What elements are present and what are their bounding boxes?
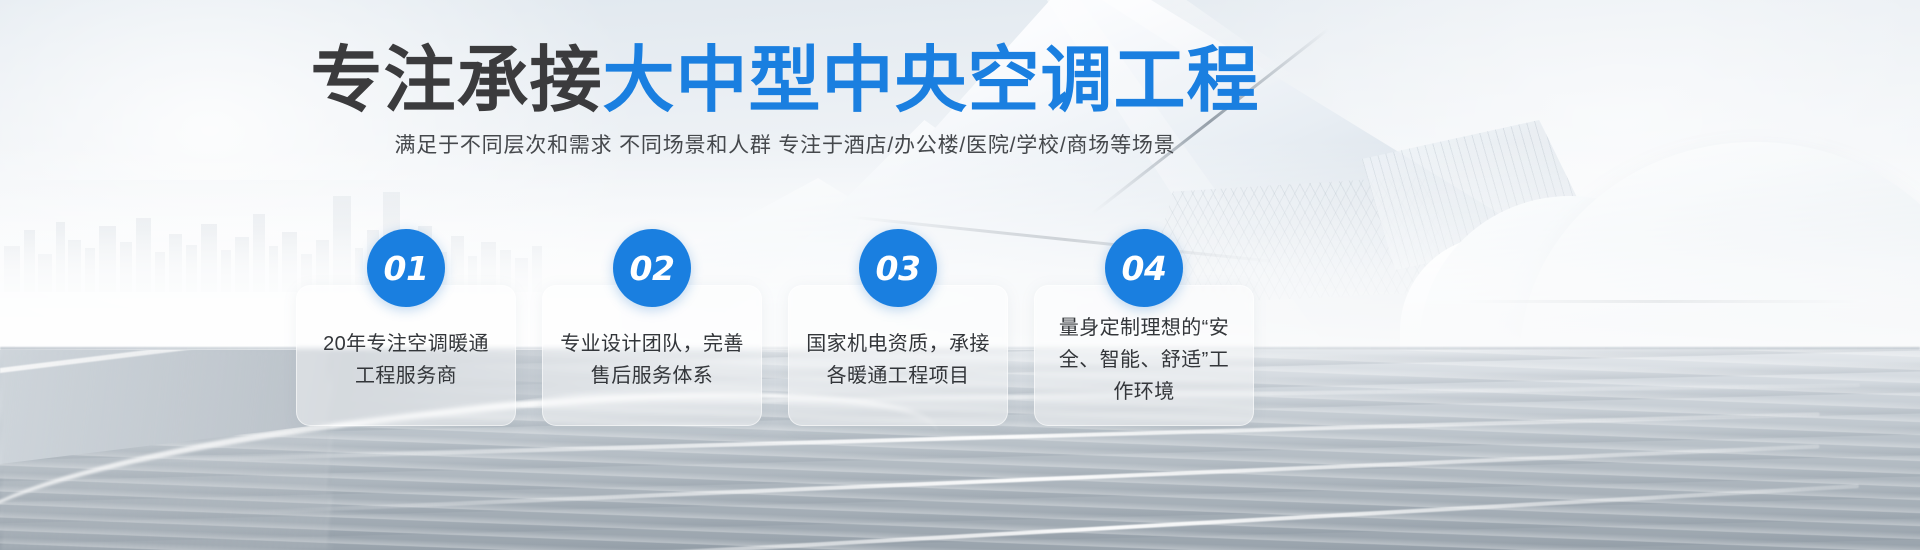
feature-number-04: 04	[1122, 249, 1167, 288]
feature-badge-01: 01	[367, 229, 445, 307]
feature-text-01: 20年专注空调暖通工程服务商	[313, 328, 499, 392]
page-subtitle: 满足于不同层次和需求 不同场景和人群 专注于酒店/办公楼/医院/学校/商场等场景	[0, 130, 1570, 162]
feature-badge-03: 03	[859, 229, 937, 307]
hero-banner: 专注承接大中型中央空调工程 满足于不同层次和需求 不同场景和人群 专注于酒店/办…	[0, 0, 1920, 550]
feature-number-03: 03	[876, 249, 921, 288]
road-speed-streaks	[0, 350, 330, 550]
feature-card-04[interactable]: 04 量身定制理想的“安全、智能、舒适”工作环境	[1034, 285, 1254, 426]
feature-card-03[interactable]: 03 国家机电资质，承接各暖通工程项目	[788, 285, 1008, 426]
feature-badge-04: 04	[1105, 229, 1183, 307]
headline-dark-text: 专注承接	[310, 38, 602, 122]
feature-number-01: 01	[384, 249, 429, 288]
feature-text-03: 国家机电资质，承接各暖通工程项目	[805, 328, 991, 392]
feature-text-04: 量身定制理想的“安全、智能、舒适”工作环境	[1051, 312, 1237, 408]
page-title: 专注承接大中型中央空调工程	[0, 44, 1570, 116]
feature-text-02: 专业设计团队，完善售后服务体系	[559, 328, 745, 392]
feature-number-02: 02	[630, 249, 675, 288]
feature-card-list: 01 20年专注空调暖通工程服务商 02 专业设计团队，完善售后服务体系 03 …	[296, 285, 1254, 426]
feature-card-01[interactable]: 01 20年专注空调暖通工程服务商	[296, 285, 516, 426]
feature-badge-02: 02	[613, 229, 691, 307]
feature-card-02[interactable]: 02 专业设计团队，完善售后服务体系	[542, 285, 762, 426]
headline-blue-text: 大中型中央空调工程	[603, 38, 1260, 122]
